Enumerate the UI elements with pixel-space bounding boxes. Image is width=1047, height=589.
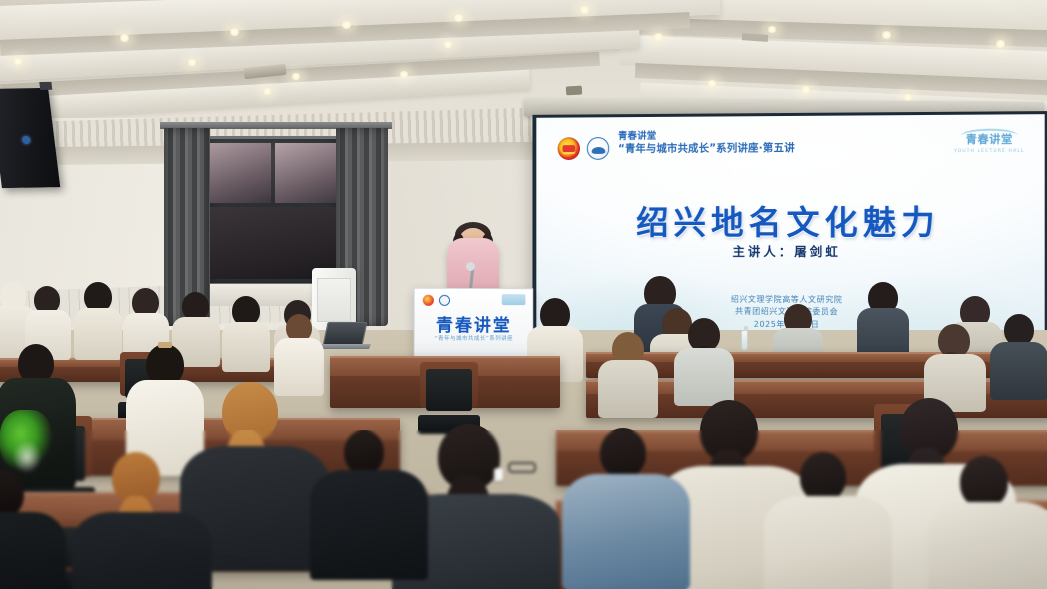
- person-head: [960, 456, 1008, 508]
- person-torso: [274, 338, 324, 396]
- ceiling-downlight: [398, 71, 410, 78]
- person-head: [344, 430, 384, 474]
- eyeglasses-icon: [508, 462, 536, 473]
- lecture-hall-photo: 青春讲堂 “青年与城市共成长”系列讲座·第五讲 青春讲堂 YOUTH LECTU…: [0, 0, 1047, 589]
- ceiling-downlight: [12, 58, 24, 65]
- slide-header-line2: “青年与城市共成长”系列讲座·第五讲: [618, 142, 795, 156]
- podium-banner: 青春讲堂 “青年与城市共成长”系列讲座: [414, 288, 534, 363]
- earbud-icon: [494, 468, 503, 481]
- person-head: [600, 428, 646, 478]
- slide-title: 绍兴地名文化魅力: [536, 195, 1044, 244]
- ceiling-camera: [566, 86, 582, 96]
- ceiling-downlight: [652, 33, 665, 41]
- microphone-head-icon: [466, 262, 475, 271]
- brand-mark-subtext: YOUTH LECTURE HALL: [952, 149, 1026, 154]
- ceiling-downlight: [228, 28, 241, 36]
- slide-brand-mark: 青春讲堂 YOUTH LECTURE HALL: [952, 131, 1026, 166]
- person-torso: [764, 496, 892, 589]
- ceiling-downlight: [706, 80, 718, 87]
- window-pane: [275, 143, 337, 203]
- ceiling-downlight: [800, 86, 812, 93]
- person-torso: [990, 342, 1047, 400]
- person-torso: [222, 322, 270, 372]
- hoodie-graphic-print: [12, 440, 42, 474]
- ceiling-downlight: [340, 21, 353, 29]
- podium-title: 青春讲堂: [415, 311, 533, 336]
- ceiling-downlight: [578, 6, 591, 14]
- person-head: [800, 452, 846, 502]
- water-bottle: [741, 330, 748, 350]
- communist-youth-league-emblem-icon: [558, 137, 580, 160]
- laptop-base: [317, 344, 371, 349]
- ceiling-downlight: [262, 88, 273, 95]
- window-frame: [202, 136, 344, 286]
- ceiling-downlight: [880, 31, 893, 39]
- person-torso: [74, 308, 122, 360]
- person-torso: [928, 502, 1047, 589]
- window-pane: [209, 143, 271, 203]
- hair-clip-icon: [158, 342, 172, 348]
- slide-presenter: 主讲人：屠剑虹: [536, 241, 1044, 261]
- slide-header-line1: 青春讲堂: [618, 130, 795, 143]
- person-torso: [72, 512, 212, 589]
- ceiling-downlight: [290, 73, 302, 80]
- ceiling-downlight: [118, 34, 131, 42]
- laptop[interactable]: [322, 322, 367, 346]
- ceiling-downlight: [186, 59, 198, 66]
- slide-header: 青春讲堂 “青年与城市共成长”系列讲座·第五讲 青春讲堂 YOUTH LECTU…: [552, 126, 1030, 168]
- podium-emblem-icon: [423, 295, 434, 306]
- ceiling-downlight: [442, 41, 454, 48]
- podium-emblem-icon: [439, 295, 450, 306]
- slide-header-text: 青春讲堂 “青年与城市共成长”系列讲座·第五讲: [618, 130, 795, 155]
- ceiling-downlight: [452, 14, 465, 22]
- shaoxing-institute-emblem-icon: [587, 137, 609, 160]
- podium-subtitle: “青年与城市共成长”系列讲座: [415, 334, 533, 342]
- ceiling-downlight: [994, 40, 1007, 48]
- person-torso: [674, 348, 734, 406]
- person-torso: [310, 470, 428, 580]
- person-torso-denim: [562, 474, 690, 589]
- person-torso: [598, 360, 658, 418]
- ceiling-downlight: [766, 26, 778, 33]
- podium-brand-mark-icon: [502, 294, 526, 305]
- person-torso: [0, 512, 66, 589]
